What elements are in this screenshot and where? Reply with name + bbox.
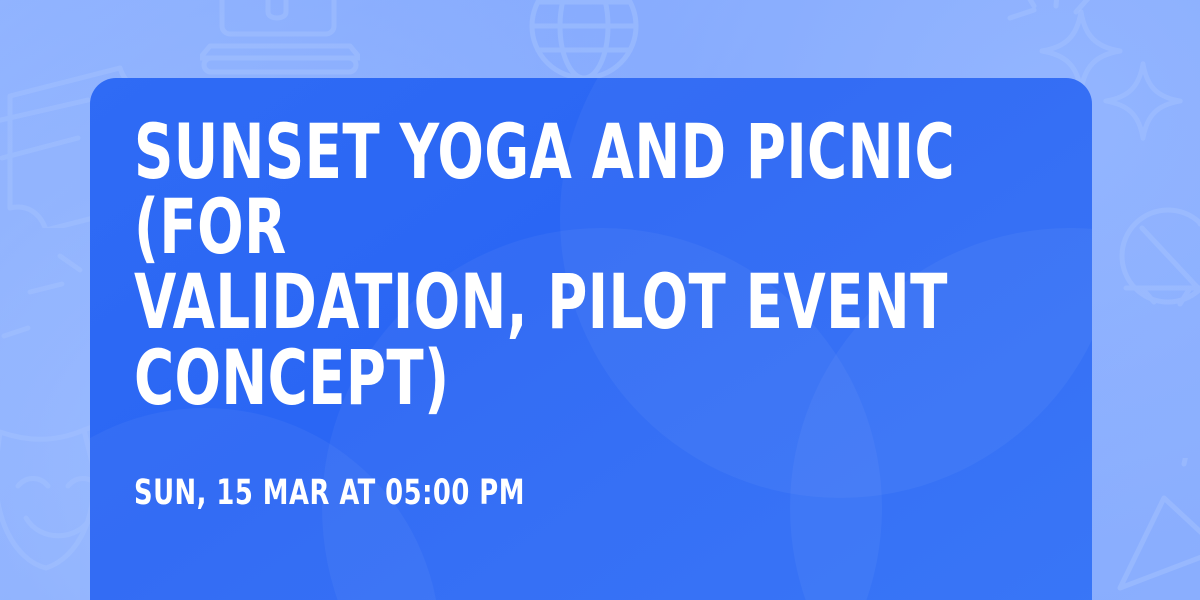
globe-icon — [524, 0, 644, 86]
event-card[interactable]: SUNSET YOGA AND PICNIC (FOR VALIDATION, … — [90, 78, 1092, 600]
event-datetime: SUN, 15 MAR AT 05:00 PM — [134, 473, 1036, 513]
event-title: SUNSET YOGA AND PICNIC (FOR VALIDATION, … — [134, 114, 1086, 415]
event-card-content: SUNSET YOGA AND PICNIC (FOR VALIDATION, … — [90, 78, 1092, 513]
event-banner: SUNSET YOGA AND PICNIC (FOR VALIDATION, … — [0, 0, 1200, 600]
microphone-icon — [1112, 200, 1200, 360]
sparkle-icon — [1100, 58, 1186, 144]
party-popper-icon — [1110, 458, 1200, 600]
projector-icon — [200, 0, 360, 90]
